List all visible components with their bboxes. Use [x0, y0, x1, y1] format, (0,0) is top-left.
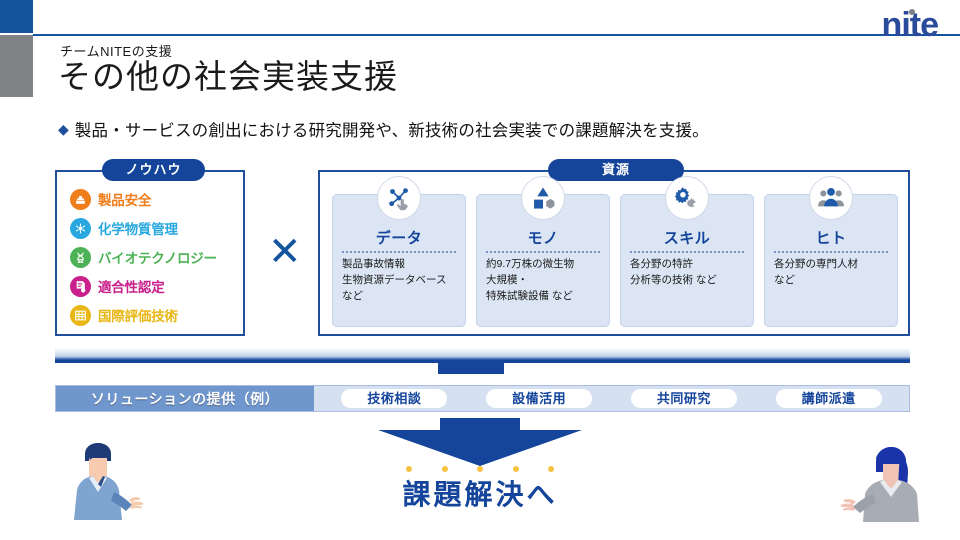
- goal-dot-icon: [442, 466, 448, 472]
- conformity-accreditation-icon: [70, 276, 91, 297]
- resource-card-line: 大規模・: [486, 273, 603, 289]
- chemical-management-icon: [70, 218, 91, 239]
- knowhow-tab-label: ノウハウ: [102, 159, 205, 181]
- down-arrow-icon: [378, 418, 582, 466]
- goal-dot-icon: [548, 466, 554, 472]
- solution-pill[interactable]: 技術相談: [341, 389, 447, 408]
- resource-card-body: 各分野の専門人材など: [774, 257, 891, 289]
- nite-logo: nite: [882, 8, 938, 42]
- solution-label: ソリューションの提供（例）: [56, 386, 314, 411]
- gradient-connector-bar: [55, 348, 910, 363]
- card-divider: [774, 251, 888, 253]
- knowhow-item-label: 適合性認定: [98, 276, 165, 296]
- solution-pill[interactable]: 共同研究: [631, 389, 737, 408]
- knowhow-item: バイオテクノロジー: [70, 244, 217, 270]
- resource-card-line: 約9.7万株の微生物: [486, 257, 603, 273]
- biotechnology-icon: [70, 247, 91, 268]
- connector-tab: [438, 363, 504, 374]
- corner-accent-gray: [0, 35, 33, 97]
- diamond-bullet-icon: ◆: [58, 121, 69, 138]
- knowhow-list: 製品安全化学物質管理バイオテクノロジー適合性認定国際評価技術: [70, 186, 217, 328]
- illustration-businesswoman: [832, 440, 928, 531]
- resource-card-title: スキル: [621, 227, 753, 248]
- resource-card-line: 分析等の技術 など: [630, 273, 747, 289]
- solution-bar: ソリューションの提供（例） 技術相談設備活用共同研究講師派遣: [55, 385, 910, 412]
- resource-card-line: 各分野の専門人材: [774, 257, 891, 273]
- resource-card: モノ約9.7万株の微生物大規模・特殊試験設備 など: [476, 194, 610, 327]
- knowhow-item: 国際評価技術: [70, 302, 217, 328]
- arrow-head: [378, 430, 582, 466]
- knowhow-item: 製品安全: [70, 186, 217, 212]
- international-evaluation-icon: [70, 305, 91, 326]
- goal-dot-icon: [477, 466, 483, 472]
- product-safety-icon: [70, 189, 91, 210]
- corner-accent-blue: [0, 0, 33, 33]
- solution-pill[interactable]: 設備活用: [486, 389, 592, 408]
- multiply-operator-icon: ✕: [268, 232, 302, 272]
- knowhow-item: 適合性認定: [70, 273, 217, 299]
- resource-card: スキル各分野の特許分析等の技術 など: [620, 194, 754, 327]
- knowhow-panel: ノウハウ 製品安全化学物質管理バイオテクノロジー適合性認定国際評価技術: [55, 170, 245, 336]
- people-icon: [809, 176, 853, 220]
- goal-dot-icon: [513, 466, 519, 472]
- resource-card-title: モノ: [477, 227, 609, 248]
- goal-dot-icon: [406, 466, 412, 472]
- logo-dot-icon: [909, 9, 915, 15]
- subtitle-text: 製品・サービスの創出における研究開発や、新技術の社会実装での課題解決を支援。: [75, 117, 709, 141]
- resource-tab-label: 資源: [548, 159, 684, 181]
- resource-card: データ製品事故情報生物資源データベースなど: [332, 194, 466, 327]
- resource-panel: 資源 データ製品事故情報生物資源データベースなどモノ約9.7万株の微生物大規模・…: [318, 170, 910, 336]
- shapes-icon: [521, 176, 565, 220]
- data-network-icon: [377, 176, 421, 220]
- arrow-stem: [440, 418, 520, 430]
- knowhow-item-label: 製品安全: [98, 189, 151, 209]
- card-divider: [630, 251, 744, 253]
- knowhow-item-label: 化学物質管理: [98, 218, 178, 238]
- gears-icon: [665, 176, 709, 220]
- resource-card-line: 特殊試験設備 など: [486, 289, 603, 305]
- subtitle-row: ◆ 製品・サービスの創出における研究開発や、新技術の社会実装での課題解決を支援。: [58, 117, 709, 141]
- resource-card-list: データ製品事故情報生物資源データベースなどモノ約9.7万株の微生物大規模・特殊試…: [332, 194, 898, 327]
- resource-card-line: など: [342, 289, 459, 305]
- knowhow-item-label: バイオテクノロジー: [98, 247, 217, 267]
- resource-card-title: データ: [333, 227, 465, 248]
- resource-card: ヒト各分野の専門人材など: [764, 194, 898, 327]
- goal-dot-row: [406, 466, 554, 472]
- resource-card-body: 約9.7万株の微生物大規模・特殊試験設備 など: [486, 257, 603, 304]
- page-title: その他の社会実装支援: [58, 58, 398, 96]
- card-divider: [342, 251, 456, 253]
- card-divider: [486, 251, 600, 253]
- knowhow-item: 化学物質管理: [70, 215, 217, 241]
- solution-pill[interactable]: 講師派遣: [776, 389, 882, 408]
- slide-root: nite チームNITEの支援 その他の社会実装支援 ◆ 製品・サービスの創出に…: [0, 0, 960, 540]
- resource-card-body: 製品事故情報生物資源データベースなど: [342, 257, 459, 304]
- resource-card-title: ヒト: [765, 227, 897, 248]
- logo-underline: [790, 34, 840, 36]
- resource-card-line: など: [774, 273, 891, 289]
- illustration-businessman: [55, 440, 151, 531]
- resource-card-line: 製品事故情報: [342, 257, 459, 273]
- resource-card-line: 各分野の特許: [630, 257, 747, 273]
- resource-card-body: 各分野の特許分析等の技術 など: [630, 257, 747, 289]
- resource-card-line: 生物資源データベース: [342, 273, 459, 289]
- solution-pill-list: 技術相談設備活用共同研究講師派遣: [314, 389, 909, 408]
- knowhow-item-label: 国際評価技術: [98, 305, 178, 325]
